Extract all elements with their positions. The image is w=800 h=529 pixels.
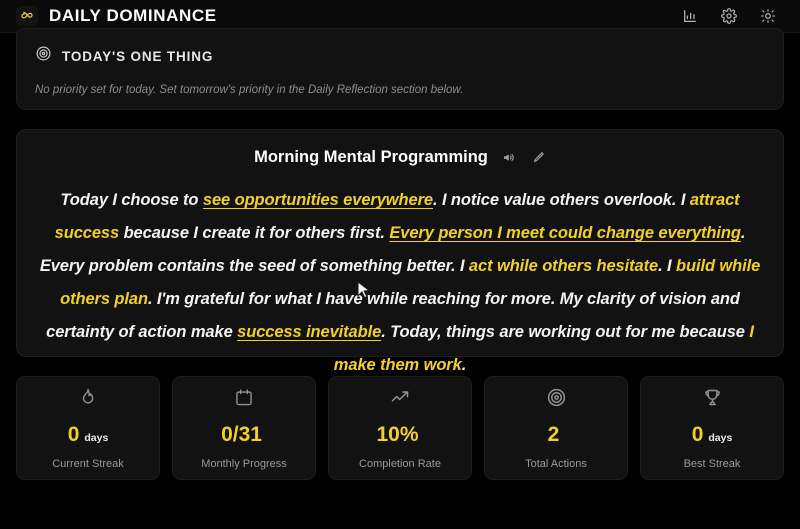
app-root: DAILY DOMINANCE bbox=[0, 0, 800, 529]
calendar-icon bbox=[234, 386, 254, 408]
stat-card-best-streak[interactable]: 0 days Best Streak bbox=[640, 376, 784, 480]
target-icon bbox=[546, 386, 567, 408]
stat-label: Current Streak bbox=[52, 458, 124, 470]
stat-label: Completion Rate bbox=[359, 458, 441, 470]
stat-card-total-actions[interactable]: 2 Total Actions bbox=[484, 376, 628, 480]
header-actions bbox=[682, 8, 784, 24]
stat-value: 2 bbox=[548, 424, 565, 445]
settings-gear-icon[interactable] bbox=[721, 8, 737, 24]
stat-number: 0 bbox=[68, 424, 80, 445]
affirmation-header: Morning Mental Programming bbox=[39, 148, 761, 167]
stat-number: 2 bbox=[548, 424, 560, 445]
stat-value: 10% bbox=[376, 424, 423, 445]
stat-unit: days bbox=[708, 433, 732, 444]
stat-card-monthly-progress[interactable]: 0/31 Monthly Progress bbox=[172, 376, 316, 480]
affirmation-title: Morning Mental Programming bbox=[254, 148, 488, 167]
stats-row: 0 days Current Streak 0/31 Monthly Progr… bbox=[16, 376, 784, 480]
stat-card-completion-rate[interactable]: 10% Completion Rate bbox=[328, 376, 472, 480]
affirmation-segment: Today I choose to bbox=[60, 191, 202, 209]
affirmation-highlight: success inevitable bbox=[237, 323, 381, 341]
pencil-edit-icon[interactable] bbox=[531, 150, 546, 165]
affirmation-segment: . bbox=[462, 356, 466, 374]
one-thing-header: TODAY'S ONE THING bbox=[35, 45, 765, 67]
trending-up-icon bbox=[389, 386, 411, 408]
stat-label: Total Actions bbox=[525, 458, 587, 470]
stat-card-current-streak[interactable]: 0 days Current Streak bbox=[16, 376, 160, 480]
morning-mental-programming-card: Morning Mental Programming Today I choos… bbox=[16, 129, 784, 357]
affirmation-highlight: act while others hesitate bbox=[469, 257, 658, 275]
speaker-volume-icon[interactable] bbox=[502, 150, 517, 165]
flame-icon bbox=[78, 386, 98, 408]
stat-value: 0 days bbox=[68, 424, 109, 445]
stat-number: 10% bbox=[376, 424, 418, 445]
stat-label: Monthly Progress bbox=[201, 458, 287, 470]
stat-unit: days bbox=[84, 433, 108, 444]
stat-value: 0 days bbox=[692, 424, 733, 445]
stat-label: Best Streak bbox=[684, 458, 741, 470]
affirmation-segment: because I create it for others first. bbox=[119, 224, 389, 242]
app-title: DAILY DOMINANCE bbox=[49, 6, 217, 26]
stats-icon[interactable] bbox=[682, 8, 698, 24]
affirmation-segment: . I bbox=[658, 257, 676, 275]
affirmation-text: Today I choose to see opportunities ever… bbox=[39, 184, 761, 382]
affirmation-highlight: see opportunities everywhere bbox=[203, 191, 433, 209]
one-thing-title: TODAY'S ONE THING bbox=[62, 49, 213, 64]
brightness-sun-icon[interactable] bbox=[760, 8, 776, 24]
todays-one-thing-card: TODAY'S ONE THING No priority set for to… bbox=[16, 28, 784, 110]
stat-number: 0 bbox=[692, 424, 704, 445]
stat-value: 0/31 bbox=[221, 424, 267, 445]
affirmation-segment: . I notice value others overlook. I bbox=[433, 191, 690, 209]
one-thing-empty-message: No priority set for today. Set tomorrow'… bbox=[35, 84, 765, 96]
affirmation-highlight: Every person I meet could change everyth… bbox=[389, 224, 740, 242]
infinity-icon bbox=[16, 6, 38, 26]
stat-number: 0/31 bbox=[221, 424, 262, 445]
trophy-icon bbox=[702, 386, 723, 408]
affirmation-segment: . Today, things are working out for me b… bbox=[381, 323, 749, 341]
target-icon bbox=[35, 45, 52, 67]
main-scroll-area: TODAY'S ONE THING No priority set for to… bbox=[0, 28, 800, 524]
